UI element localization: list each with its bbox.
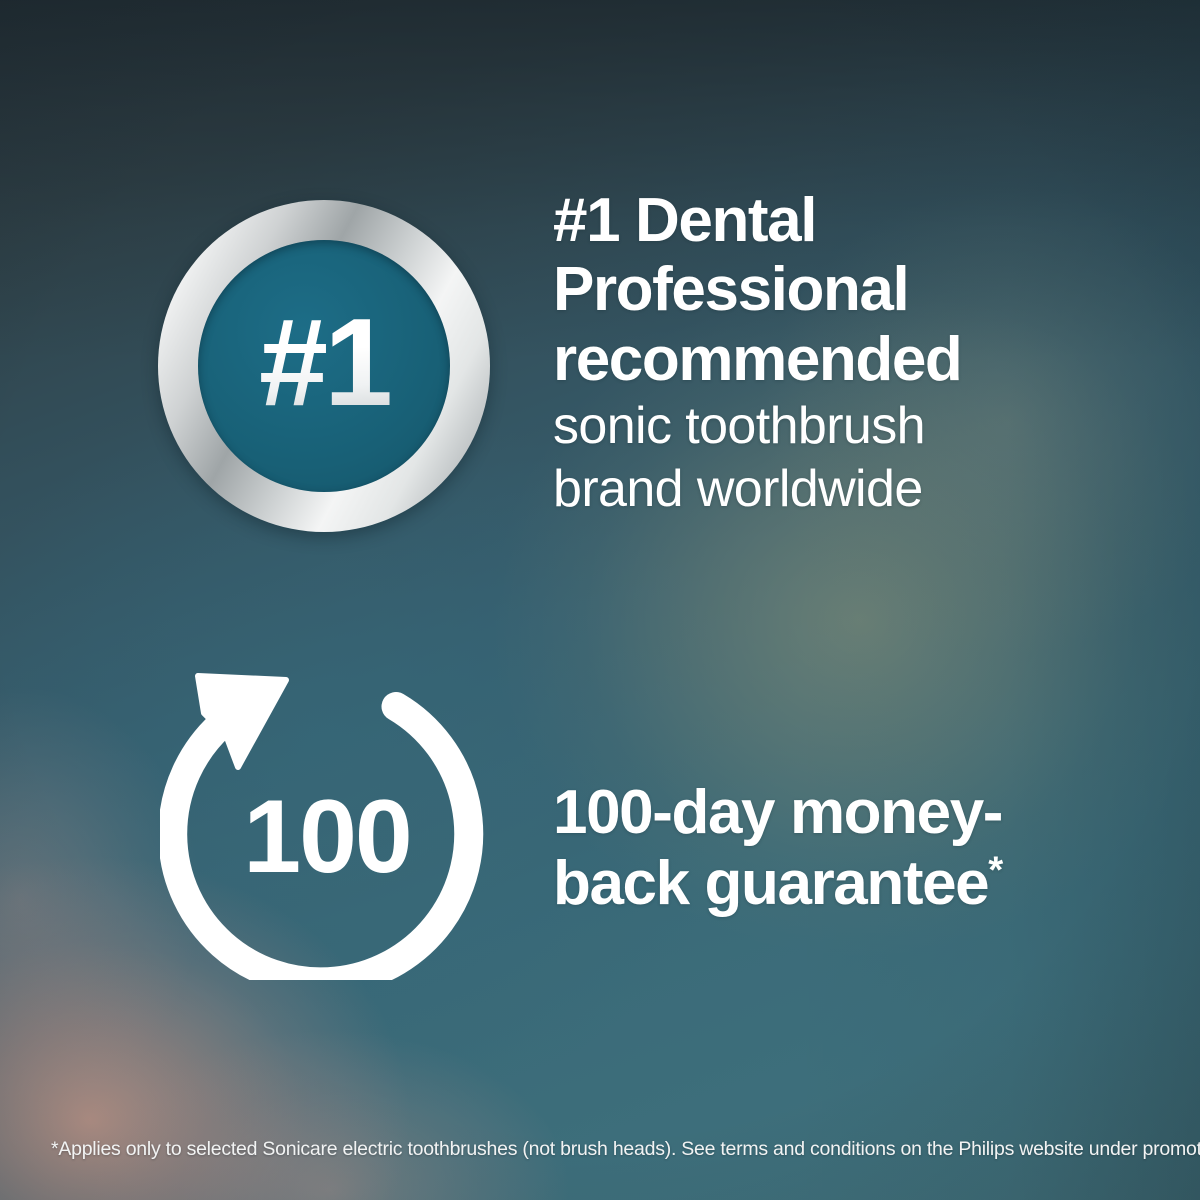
circular-arrow-label: 100 bbox=[160, 668, 490, 980]
promo-banner: #1 #1 Dental Professional recommended so… bbox=[0, 0, 1200, 1200]
claim-subline-line-1: sonic toothbrush bbox=[553, 396, 1153, 457]
circular-arrow-100-icon: 100 bbox=[160, 668, 490, 980]
guarantee-headline-line-1: 100-day money- bbox=[553, 778, 1153, 849]
claim-headline-line-1: #1 Dental bbox=[553, 186, 1153, 255]
footnote-disclaimer: *Applies only to selected Sonicare elect… bbox=[51, 1137, 1161, 1162]
claim-money-back-guarantee: 100-day money- back guarantee* bbox=[553, 778, 1153, 919]
claim-dental-professional: #1 Dental Professional recommended sonic… bbox=[553, 186, 1153, 520]
claim-headline-line-3: recommended bbox=[553, 325, 1153, 394]
claim-subline-line-2: brand worldwide bbox=[553, 459, 1153, 520]
number-one-medal-icon: #1 bbox=[158, 200, 490, 532]
claim-headline-line-2: Professional bbox=[553, 255, 1153, 324]
medal-label: #1 bbox=[198, 240, 450, 492]
guarantee-headline-line-2: back guarantee* bbox=[553, 849, 1153, 920]
guarantee-asterisk: * bbox=[988, 848, 1002, 891]
guarantee-headline-line-2-text: back guarantee bbox=[553, 849, 988, 918]
medal-inner-disc: #1 bbox=[198, 240, 450, 492]
